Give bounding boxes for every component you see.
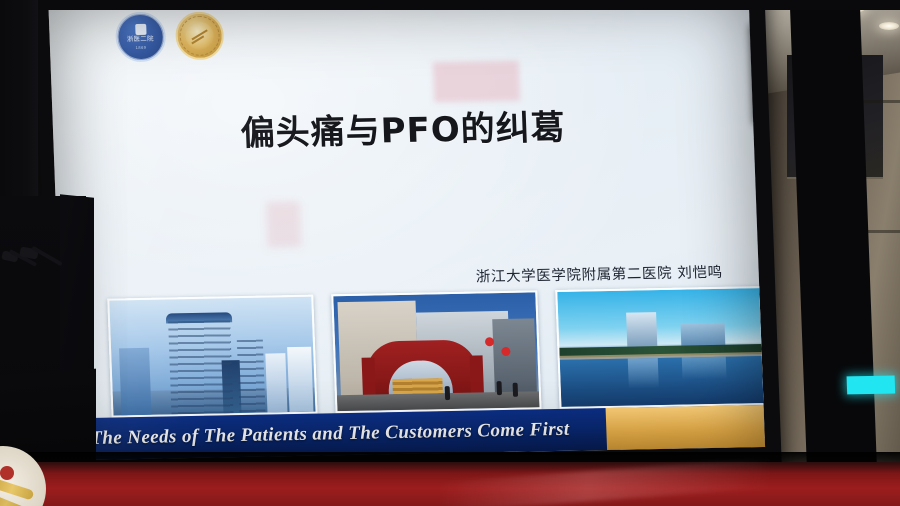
lantern-icon [501,347,510,356]
building [287,347,313,412]
building [237,340,266,413]
person-silhouette [445,386,451,400]
footer-slogan: The Needs of The Patients and The Custom… [64,419,570,451]
projector-light-artifact [266,201,302,248]
conference-hall-scene: 浙医二院 1869 偏头痛与PFO的纠葛 浙江大学医学院附属第二医院 刘恺鸣 [0,0,900,506]
foreground-stage-left-edge [60,194,94,388]
hospital-high-rise-photo [107,295,317,418]
lantern-icon [485,337,494,346]
hospital-red-archway-photo [331,290,541,413]
emblem-wheat [0,477,34,500]
emblem-label: 浙医二院 [127,36,154,43]
wall-seam [860,100,900,103]
projector-light-artifact [433,61,520,103]
projection-screen: 浙医二院 1869 偏头痛与PFO的纠葛 浙江大学医学院附属第二医院 刘恺鸣 [34,0,782,480]
ceiling-light-icon [879,22,899,30]
water-reflection [682,357,727,380]
emblem-mark-icon [135,24,146,35]
photo-ground [337,391,540,411]
water-surface [560,356,764,407]
building [265,353,287,412]
person-silhouette [496,381,502,395]
frame-top-edge [0,0,900,10]
slide-photo-strip [107,286,765,417]
building [119,348,151,416]
slide-logos: 浙医二院 1869 [115,10,225,62]
building [168,320,233,414]
hospital-waterfront-photo [555,286,765,409]
hospital-blue-emblem-icon: 浙医二院 1869 [115,11,167,62]
person-silhouette [513,383,519,397]
emblem-year: 1869 [135,45,146,50]
footer-accent-block [606,405,766,450]
presentation-slide: 浙医二院 1869 偏头痛与PFO的纠葛 浙江大学医学院附属第二医院 刘恺鸣 [48,0,765,460]
led-indicator [847,375,896,394]
water-reflection [628,358,659,389]
gold-seal-medallion-icon [175,11,225,60]
